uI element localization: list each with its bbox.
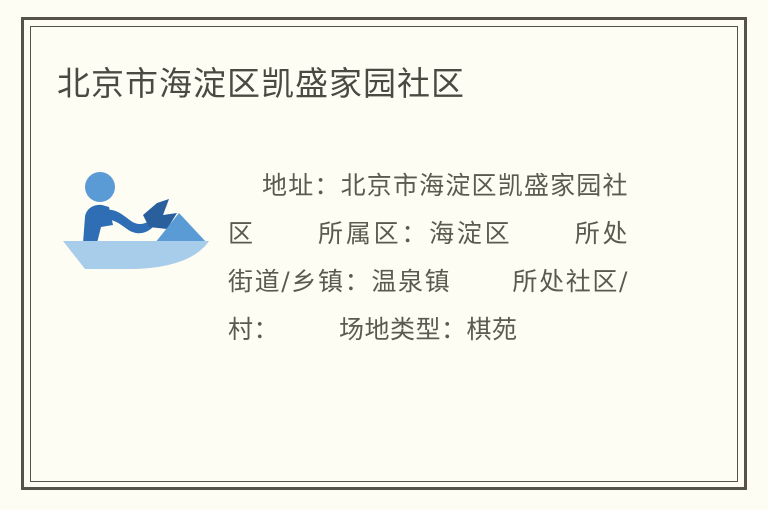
page-title: 北京市海淀区凯盛家园社区 <box>57 62 465 106</box>
illustration-head <box>85 172 115 202</box>
address-label: 地址： <box>262 171 341 200</box>
street-value: 温泉镇 <box>371 267 451 296</box>
illustration-hull <box>63 241 209 269</box>
info-card-page: 北京市海淀区凯盛家园社区 地址：北京市海淀区凯盛家园社区所属区：海淀区所处街道/… <box>0 0 768 510</box>
venue-type-label: 场地类型： <box>339 315 467 344</box>
venue-details-text: 地址：北京市海淀区凯盛家园社区所属区：海淀区所处街道/乡镇：温泉镇所处社区/村：… <box>228 162 628 354</box>
district-label: 所属区： <box>316 219 429 248</box>
person-rowing-boat-illustration <box>57 163 213 281</box>
district-value: 海淀区 <box>429 219 512 248</box>
venue-type-value: 棋苑 <box>467 315 518 344</box>
